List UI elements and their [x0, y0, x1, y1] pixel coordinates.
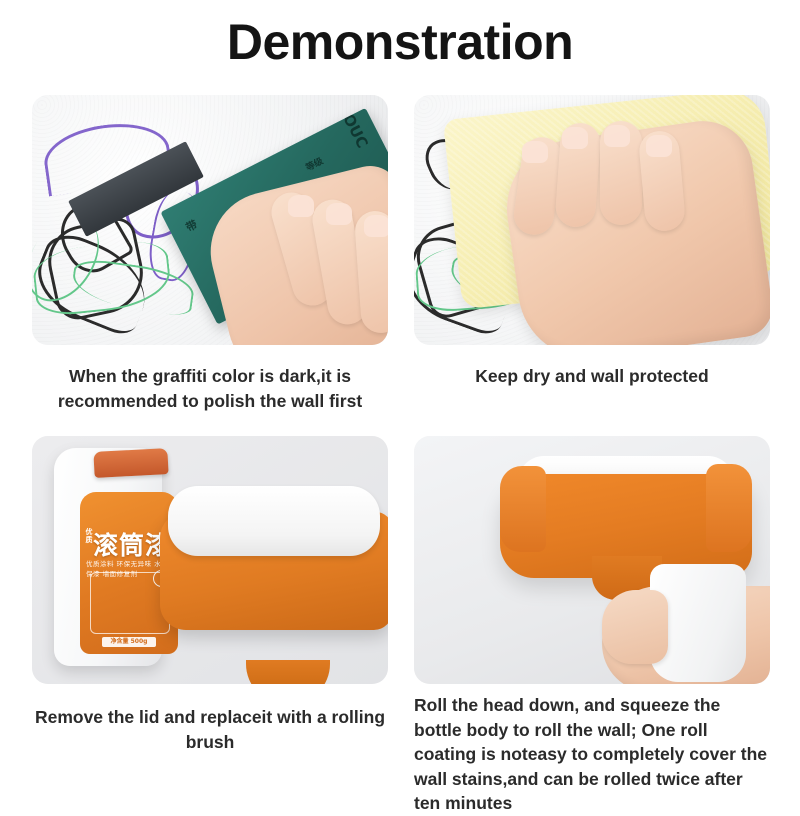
fingernail-icon — [326, 203, 352, 225]
bottle-cap-icon — [93, 448, 168, 478]
caption-replace-lid: Remove the lid and replaceit with a roll… — [32, 705, 388, 755]
thumb-icon — [602, 590, 668, 664]
roller-bracket-left-icon — [500, 466, 546, 552]
fingernail-icon — [646, 135, 672, 157]
panel-polish-wall: QETAOUC 带 研 磨 块 等级 — [0, 95, 400, 414]
demonstration-page: Demonstration — [0, 0, 800, 800]
roller-foam-icon — [168, 486, 380, 556]
bottle-net-weight-chip: 净含量 500g — [102, 637, 156, 647]
panel-roll-wall: Roll the head down, and squeeze the bott… — [400, 436, 800, 816]
caption-polish-wall: When the graffiti color is dark,it is re… — [32, 364, 388, 414]
photo-polish-wall: QETAOUC 带 研 磨 块 等级 — [32, 95, 388, 345]
roller-stem-icon — [246, 660, 330, 684]
demo-row-2: 优质 滚筒漆 优质涂料 环保无异味 水性环保漆 墙面修复剂 净含量 500g — [0, 436, 800, 816]
page-title: Demonstration — [0, 14, 800, 70]
panel-replace-lid: 优质 滚筒漆 优质涂料 环保无异味 水性环保漆 墙面修复剂 净含量 500g — [0, 436, 400, 816]
panel-keep-dry: Keep dry and wall protected — [400, 95, 800, 414]
demo-row-1: QETAOUC 带 研 磨 块 等级 — [0, 95, 800, 414]
fingernail-icon — [562, 127, 588, 149]
paint-bottle-icon: 优质 滚筒漆 优质涂料 环保无异味 水性环保漆 墙面修复剂 净含量 500g — [54, 448, 162, 666]
caption-roll-wall: Roll the head down, and squeeze the bott… — [414, 693, 770, 816]
roller-bracket-right-icon — [706, 464, 752, 552]
fingernail-icon — [288, 195, 314, 217]
demo-grid: QETAOUC 带 研 磨 块 等级 — [0, 95, 800, 816]
fingernail-icon — [364, 215, 388, 237]
photo-roll-wall — [414, 436, 770, 684]
photo-replace-lid: 优质 滚筒漆 优质涂料 环保无异味 水性环保漆 墙面修复剂 净含量 500g — [32, 436, 388, 684]
bottle-net-weight-text: 净含量 500g — [102, 637, 156, 647]
caption-keep-dry: Keep dry and wall protected — [414, 364, 770, 389]
photo-keep-dry — [414, 95, 770, 345]
fingernail-icon — [604, 125, 630, 147]
fingernail-icon — [522, 141, 548, 163]
